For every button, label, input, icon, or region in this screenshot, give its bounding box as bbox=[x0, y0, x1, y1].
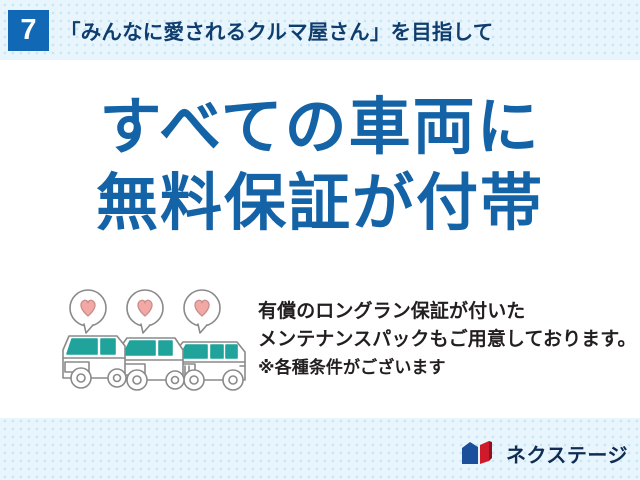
brand-name: ネクステージ bbox=[506, 439, 628, 468]
lower-section: 有償のロングラン保証が付いた メンテナンスパックもご用意しております。 ※各種条… bbox=[0, 288, 640, 418]
headline-line-2: 無料保証が付帯 bbox=[0, 166, 640, 242]
headline-line-1: すべての車両に bbox=[0, 90, 640, 166]
banner-header: 7 「みんなに愛されるクルマ屋さん」を目指して bbox=[0, 0, 640, 60]
heart-bubble-1 bbox=[70, 290, 106, 333]
content-card: すべての車両に 無料保証が付帯 bbox=[0, 60, 640, 418]
body-line-2: メンテナンスパックもご用意しております。 bbox=[258, 326, 637, 354]
heart-bubble-3 bbox=[184, 290, 220, 333]
header-title: 「みんなに愛されるクルマ屋さん」を目指して bbox=[60, 15, 493, 45]
vehicle-kei-van bbox=[63, 336, 126, 388]
brand-footer: ネクステージ bbox=[461, 436, 628, 470]
body-line-1: 有償のロングラン保証が付いた bbox=[258, 298, 637, 326]
section-number-badge: 7 bbox=[8, 10, 49, 51]
body-copy: 有償のロングラン保証が付いた メンテナンスパックもご用意しております。 ※各種条… bbox=[258, 288, 637, 382]
vehicles-illustration bbox=[55, 288, 250, 396]
headline: すべての車両に 無料保証が付帯 bbox=[0, 90, 640, 242]
heart-bubble-2 bbox=[127, 290, 163, 333]
body-note: ※各種条件がございます bbox=[258, 354, 637, 382]
vehicle-minivan bbox=[117, 338, 184, 390]
promo-banner: 7 「みんなに愛されるクルマ屋さん」を目指して すべての車両に 無料保証が付帯 bbox=[0, 0, 640, 480]
nextage-n-logo-icon bbox=[461, 440, 499, 466]
